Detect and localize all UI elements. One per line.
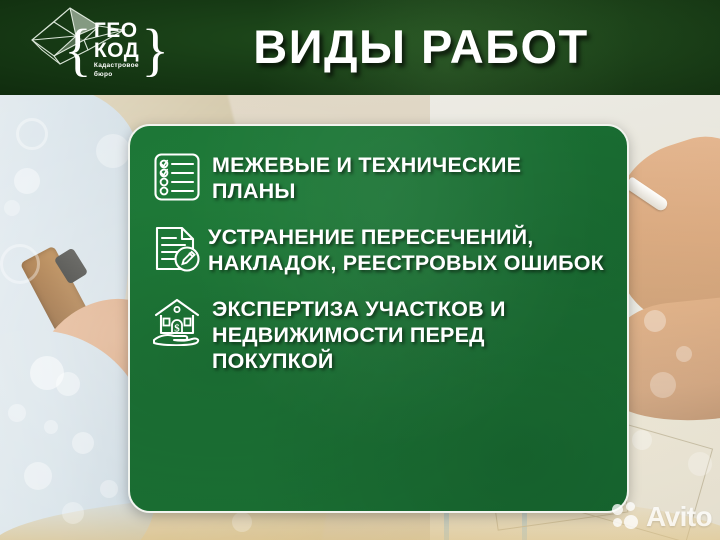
- logo-subtitle-line2: бюро: [94, 71, 113, 79]
- services-card: МЕЖЕВЫЕ И ТЕХНИЧЕСКИЕ ПЛАНЫ: [128, 124, 629, 513]
- svg-text:$: $: [174, 323, 180, 335]
- services-list: МЕЖЕВЫЕ И ТЕХНИЧЕСКИЕ ПЛАНЫ: [130, 126, 627, 511]
- bokeh-ring: [16, 118, 48, 150]
- document-pencil-icon: [152, 224, 204, 276]
- bokeh-ring: [0, 244, 40, 284]
- logo-line-geo: ГЕО: [94, 21, 138, 41]
- avito-wordmark: Avito: [646, 503, 712, 531]
- list-item: УСТРАНЕНИЕ ПЕРЕСЕЧЕНИЙ, НАКЛАДОК, РЕЕСТР…: [152, 222, 609, 276]
- logo-lockup: { ГЕО КОД Кадастровое бюро }: [64, 17, 180, 83]
- logo-brace-left: {: [64, 21, 92, 79]
- house-money-in-hand-icon: $: [152, 296, 204, 348]
- company-logo[interactable]: { ГЕО КОД Кадастровое бюро }: [10, 4, 180, 92]
- list-item-label: УСТРАНЕНИЕ ПЕРЕСЕЧЕНИЙ, НАКЛАДОК, РЕЕСТР…: [208, 222, 609, 276]
- list-item-label: ЭКСПЕРТИЗА УЧАСТКОВ И НЕДВИЖИМОСТИ ПЕРЕД…: [212, 294, 609, 374]
- list-item: $ ЭКСПЕРТИЗА УЧАСТКОВ И НЕДВИЖИМОСТИ ПЕР…: [152, 294, 609, 374]
- checklist-icon: [152, 152, 204, 204]
- logo-brace-right: }: [141, 21, 169, 79]
- list-item: МЕЖЕВЫЕ И ТЕХНИЧЕСКИЕ ПЛАНЫ: [152, 150, 609, 204]
- list-item-label: МЕЖЕВЫЕ И ТЕХНИЧЕСКИЕ ПЛАНЫ: [212, 150, 609, 204]
- avito-dots-icon: [612, 502, 642, 532]
- avito-watermark: Avito: [612, 502, 712, 532]
- logo-wordmark: ГЕО КОД Кадастровое бюро: [94, 21, 139, 79]
- logo-line-kod: КОД: [94, 41, 139, 61]
- logo-subtitle-line1: Кадастровое: [94, 62, 139, 70]
- advertisement-banner: ВИДЫ РАБОТ { ГЕО К: [0, 0, 720, 540]
- page-title: ВИДЫ РАБОТ: [186, 8, 656, 86]
